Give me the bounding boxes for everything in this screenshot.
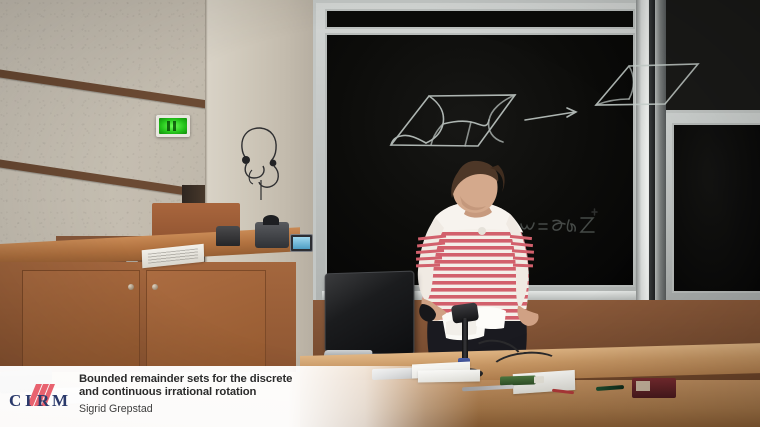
exit-sign-glow: [159, 118, 187, 134]
caption-text-block: Bounded remainder sets for the discrete …: [79, 373, 379, 415]
blackboard-upper-panel: [325, 9, 635, 29]
paper-text-lines: [148, 248, 198, 263]
logo-letter-i: I: [25, 391, 33, 410]
talk-title-line-2: and continuous irrational rotation: [79, 386, 256, 398]
blackboard-frame-secondary: [661, 110, 760, 318]
talk-title: Bounded remainder sets for the discrete …: [79, 373, 379, 398]
desktop-monitor: [325, 271, 415, 356]
cabinet-knob[interactable]: [128, 284, 134, 290]
logo-letter-r: R: [37, 391, 51, 410]
podium-control-screen[interactable]: [290, 234, 313, 252]
control-screen-display: [293, 237, 310, 249]
video-frame: C I R M Bounded remainder sets for the d…: [0, 0, 760, 427]
blackboard-surface-secondary: [672, 123, 760, 293]
podium-device-black: [216, 226, 240, 246]
emergency-exit-sign: [156, 115, 190, 137]
speaker-name: Sigrid Grepstad: [79, 403, 379, 415]
logo-letter-m: M: [52, 391, 70, 410]
logo-letter-c: C: [9, 391, 23, 410]
talk-title-line-1: Bounded remainder sets for the discrete: [79, 373, 292, 385]
cabinet-knob[interactable]: [152, 284, 158, 290]
exit-sign-pictogram: [165, 121, 181, 131]
cirm-logo[interactable]: C I R M: [8, 380, 72, 414]
podium-camera-device: [255, 222, 289, 248]
headset-microphone-icon: [230, 122, 294, 200]
camera-lens: [263, 215, 279, 225]
lower-third-banner: C I R M Bounded remainder sets for the d…: [0, 366, 760, 427]
